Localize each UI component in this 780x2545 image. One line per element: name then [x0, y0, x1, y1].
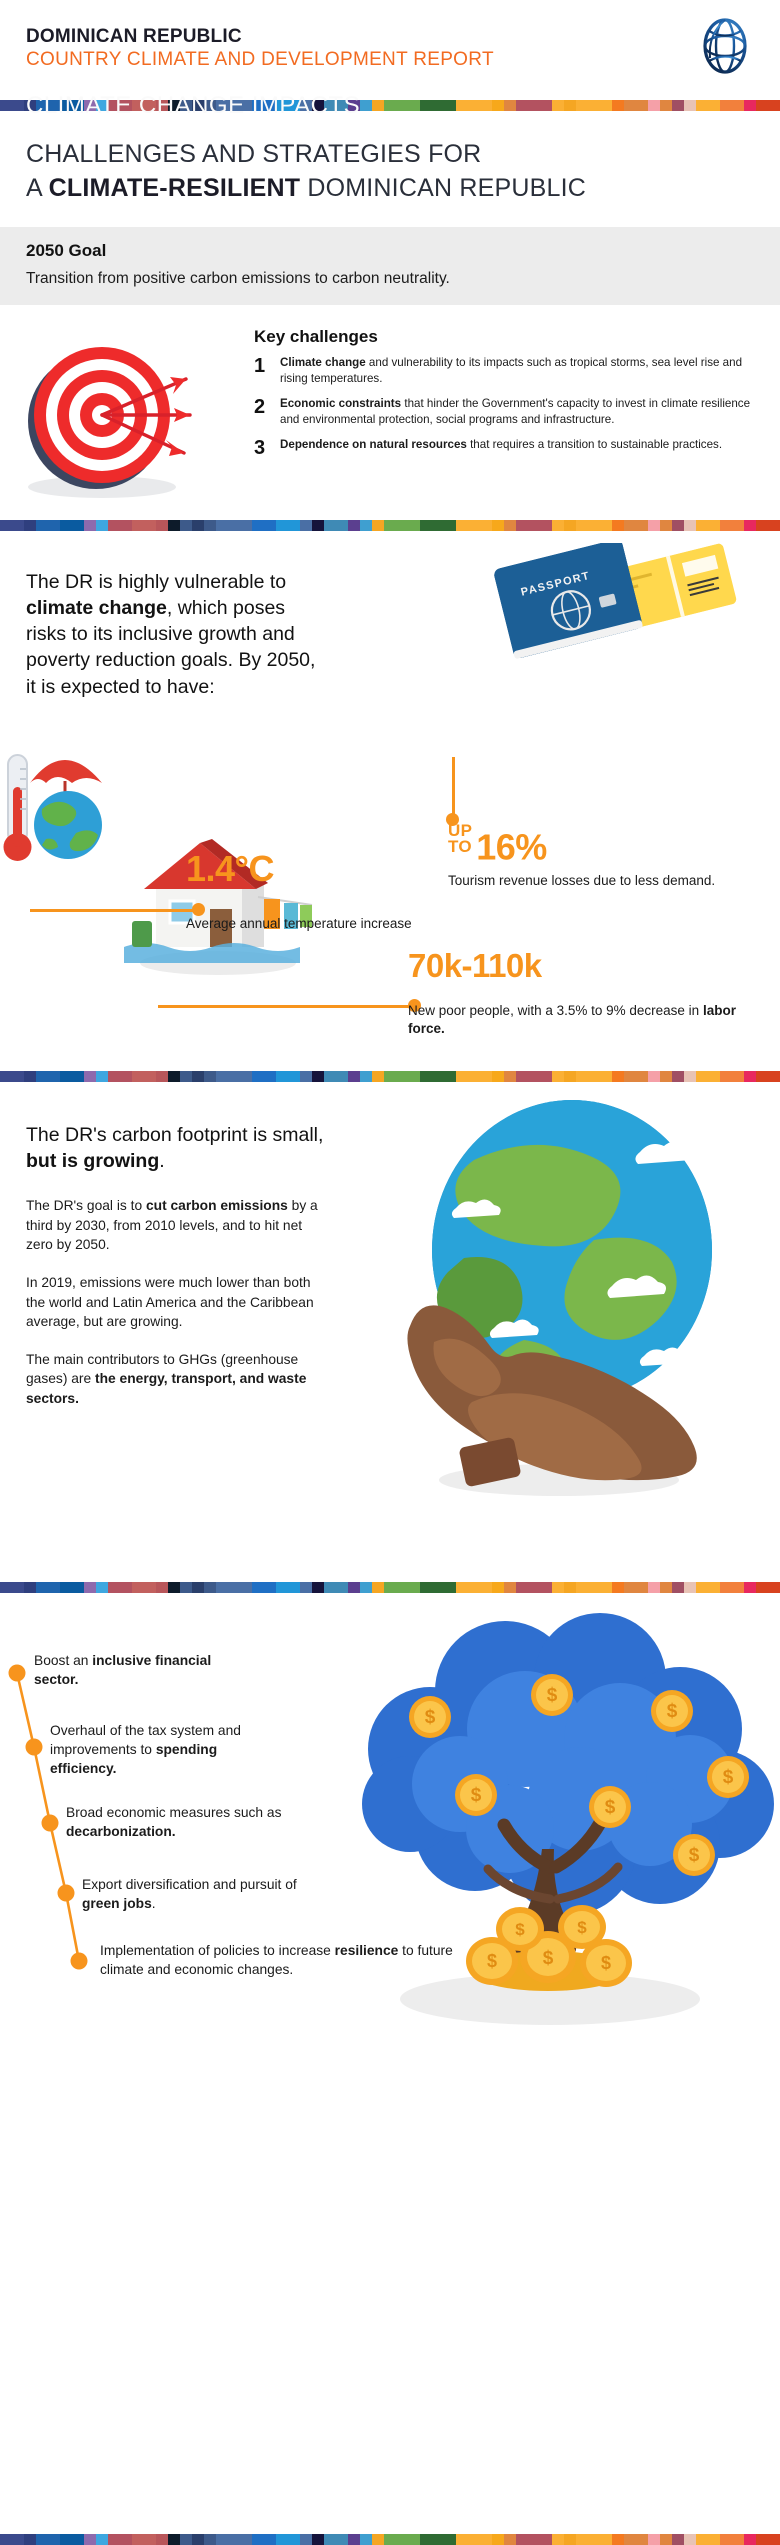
stripe-band-58	[696, 520, 708, 531]
stripe-band-11	[132, 1071, 144, 1082]
key-challenges-list: Key challenges 1 Climate change and vuln…	[254, 327, 754, 459]
carbon-heading-pre: The DR's carbon footprint is small,	[26, 1124, 323, 1146]
report-header: DOMINICAN REPUBLIC COUNTRY CLIMATE AND D…	[0, 0, 780, 100]
stripe-band-31	[372, 100, 384, 111]
stripe-band-17	[204, 2534, 216, 2545]
stripe-band-14	[168, 1582, 180, 1593]
stripe-band-36	[432, 100, 444, 111]
stripe-band-63	[756, 520, 768, 531]
stripe-band-62	[744, 1582, 756, 1593]
stripe-band-54	[648, 2534, 660, 2545]
stripe-band-57	[684, 1582, 696, 1593]
stripe-band-56	[672, 1071, 684, 1082]
stripe-band-0	[0, 520, 12, 531]
stripe-band-40	[480, 1582, 492, 1593]
stripe-band-16	[192, 1071, 204, 1082]
stripe-band-50	[600, 520, 612, 531]
stripe-band-1	[12, 520, 24, 531]
stripe-band-47	[564, 520, 576, 531]
stripe-band-1	[12, 100, 24, 111]
stripe-band-60	[720, 1071, 732, 1082]
stripe-band-7	[84, 1071, 96, 1082]
stripe-band-17	[204, 1071, 216, 1082]
stripe-band-57	[684, 2534, 696, 2545]
stripe-band-34	[408, 2534, 420, 2545]
stripe-band-63	[756, 1071, 768, 1082]
stripe-band-10	[120, 1582, 132, 1593]
stripe-band-21	[252, 1071, 264, 1082]
stripe-band-14	[168, 1071, 180, 1082]
stat-tourism-caption: Tourism revenue losses due to less deman…	[448, 872, 748, 890]
title-line-2-prefix: A	[26, 174, 49, 202]
stripe-band-32	[384, 1582, 396, 1593]
infographic-page: DOMINICAN REPUBLIC COUNTRY CLIMATE AND D…	[0, 0, 780, 2545]
stripe-band-56	[672, 1582, 684, 1593]
svg-text:$: $	[605, 1797, 616, 1818]
key-challenges-heading: Key challenges	[254, 327, 754, 347]
stripe-band-35	[420, 1071, 432, 1082]
stripe-band-29	[348, 1071, 360, 1082]
strategies-section: $ $ $ $ $ $ $ $ $ $ $ $	[0, 1593, 780, 2153]
stripe-band-64	[768, 1071, 780, 1082]
stripe-band-52	[624, 100, 636, 111]
stat-new-poor-people: 70k-110k New poor people, with a 3.5% to…	[408, 949, 738, 1038]
svg-text:$: $	[515, 1920, 525, 1939]
strategy-text-pre: Implementation of policies to increase	[100, 1943, 335, 1958]
strategy-item: Export diversification and pursuit of gr…	[82, 1875, 307, 1913]
stripe-band-12	[144, 2534, 156, 2545]
stripe-band-13	[156, 520, 168, 531]
stripe-band-51	[612, 1071, 624, 1082]
vuln-lead-pre: The DR is highly vulnerable to	[26, 571, 286, 593]
svg-text:$: $	[689, 1845, 700, 1866]
stat-tourism-prefix: UP TO	[448, 823, 472, 854]
stripe-band-34	[408, 1071, 420, 1082]
stripe-band-63	[756, 100, 768, 111]
stripe-band-44	[528, 1071, 540, 1082]
title-line-2-emphasis: CLIMATE-RESILIENT	[49, 174, 301, 202]
goal-text: Transition from positive carbon emission…	[26, 270, 754, 288]
stripe-band-40	[480, 520, 492, 531]
stripe-band-45	[540, 100, 552, 111]
stripe-band-40	[480, 2534, 492, 2545]
stripe-band-13	[156, 2534, 168, 2545]
strategy-text-pre: Boost an	[34, 1653, 92, 1668]
stripe-band-57	[684, 100, 696, 111]
stripe-band-6	[72, 1582, 84, 1593]
stripe-band-15	[180, 2534, 192, 2545]
stripe-band-53	[636, 1071, 648, 1082]
thermometer-and-earth-illustration	[2, 721, 120, 871]
carbon-footprint-section: The DR's carbon footprint is small, but …	[0, 1082, 780, 1582]
stripe-band-37	[444, 520, 456, 531]
stripe-band-29	[348, 1582, 360, 1593]
stripe-band-43	[516, 1071, 528, 1082]
svg-text:$: $	[601, 1953, 611, 1973]
stripe-band-32	[384, 520, 396, 531]
stripe-band-36	[432, 520, 444, 531]
stripe-band-38	[456, 2534, 468, 2545]
stripe-band-6	[72, 2534, 84, 2545]
stripe-band-49	[588, 1582, 600, 1593]
stripe-band-55	[660, 1582, 672, 1593]
stripe-band-19	[228, 1071, 240, 1082]
strategy-text-pre: Export diversification and pursuit of	[82, 1877, 297, 1892]
stripe-band-52	[624, 520, 636, 531]
stripe-band-18	[216, 1582, 228, 1593]
challenge-text-rest: that requires a transition to sustainabl…	[467, 438, 722, 451]
stripe-band-56	[672, 520, 684, 531]
stripe-band-35	[420, 520, 432, 531]
stripe-band-60	[720, 1582, 732, 1593]
stripe-band-36	[432, 1071, 444, 1082]
stripe-band-32	[384, 100, 396, 111]
stripe-band-62	[744, 1071, 756, 1082]
stripe-band-26	[312, 1582, 324, 1593]
stripe-band-10	[120, 520, 132, 531]
stripe-band-59	[708, 1582, 720, 1593]
stripe-band-35	[420, 1582, 432, 1593]
stripe-band-38	[456, 1582, 468, 1593]
stat-temperature-increase: 1.4°C Average annual temperature increas…	[186, 851, 436, 933]
stripe-band-40	[480, 100, 492, 111]
stripe-band-24	[288, 520, 300, 531]
stat-tourism-prefix-line2: TO	[448, 837, 472, 856]
stripe-band-4	[48, 2534, 60, 2545]
svg-text:$: $	[723, 1767, 734, 1788]
stripe-band-9	[108, 520, 120, 531]
stat-temperature-caption: Average annual temperature increase	[186, 915, 436, 933]
stripe-band-2	[24, 520, 36, 531]
stripe-band-51	[612, 100, 624, 111]
stripe-band-59	[708, 520, 720, 531]
stripe-band-45	[540, 1582, 552, 1593]
stripe-band-27	[324, 2534, 336, 2545]
stripe-band-1	[12, 2534, 24, 2545]
stripe-band-4	[48, 520, 60, 531]
stripe-band-41	[492, 1582, 504, 1593]
strategy-text-bold: decarbonization.	[66, 1824, 176, 1839]
challenge-text-bold: Economic constraints	[280, 397, 401, 410]
challenge-text-bold: Climate change	[280, 356, 366, 369]
stripe-band-39	[468, 1582, 480, 1593]
strategy-text-bold: resilience	[335, 1943, 399, 1958]
stripe-band-48	[576, 2534, 588, 2545]
stripe-band-52	[624, 2534, 636, 2545]
stripe-band-52	[624, 1582, 636, 1593]
stripe-band-16	[192, 520, 204, 531]
stripe-band-50	[600, 2534, 612, 2545]
vulnerability-section: The DR is highly vulnerable to climate c…	[0, 531, 780, 1071]
stripe-band-27	[324, 1582, 336, 1593]
stripe-band-39	[468, 100, 480, 111]
stripe-band-23	[276, 520, 288, 531]
key-challenge-item: 1 Climate change and vulnerability to it…	[254, 355, 754, 387]
main-title: CHALLENGES AND STRATEGIES FOR A CLIMATE-…	[0, 111, 780, 227]
report-series-name: COUNTRY CLIMATE AND DEVELOPMENT REPORT	[26, 48, 754, 72]
stripe-band-58	[696, 1582, 708, 1593]
stripe-band-64	[768, 520, 780, 531]
stripe-band-19	[228, 1582, 240, 1593]
stripe-band-7	[84, 520, 96, 531]
stripe-band-24	[288, 2534, 300, 2545]
stripe-band-7	[84, 1582, 96, 1593]
stripe-band-13	[156, 1071, 168, 1082]
stripe-band-47	[564, 100, 576, 111]
header-watermark: CLIMATE CHANGE IMPACTS	[26, 92, 360, 120]
stripe-band-47	[564, 2534, 576, 2545]
stripe-band-29	[348, 520, 360, 531]
stripe-band-55	[660, 520, 672, 531]
stripe-band-60	[720, 2534, 732, 2545]
stripe-band-37	[444, 1582, 456, 1593]
stripe-band-51	[612, 1582, 624, 1593]
stripe-band-31	[372, 520, 384, 531]
stripe-band-8	[96, 2534, 108, 2545]
climate-stripe-4	[0, 1582, 780, 1593]
carbon-paragraph: The DR's goal is to cut carbon emissions…	[26, 1196, 326, 1255]
stripe-band-23	[276, 1582, 288, 1593]
stripe-band-0	[0, 1582, 12, 1593]
stripe-band-22	[264, 520, 276, 531]
stat-tourism-value: 16%	[476, 827, 547, 868]
stripe-band-3	[36, 2534, 48, 2545]
carbon-heading-post: .	[159, 1150, 164, 1172]
stripe-band-59	[708, 100, 720, 111]
stripe-band-26	[312, 520, 324, 531]
stat-new-poor-value: 70k-110k	[408, 949, 738, 982]
stripe-band-55	[660, 1071, 672, 1082]
stripe-band-50	[600, 1582, 612, 1593]
hand-holding-globe-illustration	[344, 1090, 774, 1510]
stripe-band-55	[660, 2534, 672, 2545]
challenge-number: 3	[254, 437, 280, 459]
stripe-band-31	[372, 1071, 384, 1082]
stripe-band-56	[672, 100, 684, 111]
stripe-band-49	[588, 520, 600, 531]
key-challenge-item: 3 Dependence on natural resources that r…	[254, 437, 754, 459]
stripe-band-8	[96, 520, 108, 531]
stripe-band-45	[540, 1071, 552, 1082]
stripe-band-61	[732, 2534, 744, 2545]
stripe-band-19	[228, 520, 240, 531]
stripe-band-39	[468, 1071, 480, 1082]
stripe-band-33	[396, 100, 408, 111]
stripe-band-27	[324, 520, 336, 531]
carbon-paragraph: In 2019, emissions were much lower than …	[26, 1273, 326, 1332]
stripe-band-33	[396, 1071, 408, 1082]
stripe-band-17	[204, 520, 216, 531]
stripe-band-37	[444, 100, 456, 111]
challenge-text: Climate change and vulnerability to its …	[280, 355, 754, 387]
stripe-band-42	[504, 100, 516, 111]
stripe-band-14	[168, 520, 180, 531]
stripe-band-53	[636, 1582, 648, 1593]
stripe-band-20	[240, 1071, 252, 1082]
carbon-paragraph-bold: cut carbon emissions	[146, 1198, 288, 1213]
stripe-band-25	[300, 1071, 312, 1082]
stripe-band-5	[60, 1071, 72, 1082]
stripe-band-38	[456, 100, 468, 111]
goal-band: 2050 Goal Transition from positive carbo…	[0, 227, 780, 305]
carbon-text-column: The DR's carbon footprint is small, but …	[26, 1122, 326, 1426]
stripe-band-48	[576, 100, 588, 111]
stripe-band-12	[144, 1071, 156, 1082]
stripe-band-54	[648, 520, 660, 531]
stripe-band-54	[648, 1071, 660, 1082]
stripe-band-58	[696, 2534, 708, 2545]
stripe-band-33	[396, 520, 408, 531]
stat-tourism-value-row: UP TO 16%	[448, 823, 748, 866]
stripe-band-34	[408, 1582, 420, 1593]
carbon-heading: The DR's carbon footprint is small, but …	[26, 1122, 326, 1174]
stripe-band-45	[540, 520, 552, 531]
strategy-item: Broad economic measures such as decarbon…	[66, 1803, 286, 1841]
stripe-band-1	[12, 1071, 24, 1082]
stripe-band-46	[552, 1582, 564, 1593]
stripe-band-10	[120, 1071, 132, 1082]
stripe-band-28	[336, 1071, 348, 1082]
vulnerability-lead-text: The DR is highly vulnerable to climate c…	[26, 569, 326, 700]
stripe-band-34	[408, 520, 420, 531]
stripe-band-18	[216, 1071, 228, 1082]
stripe-band-10	[120, 2534, 132, 2545]
stripe-band-39	[468, 2534, 480, 2545]
stripe-band-9	[108, 1071, 120, 1082]
stripe-band-47	[564, 1582, 576, 1593]
carbon-paragraph-pre: In 2019, emissions were much lower than …	[26, 1275, 314, 1329]
stripe-band-40	[480, 1071, 492, 1082]
stripe-band-30	[360, 520, 372, 531]
stripe-band-43	[516, 1582, 528, 1593]
stripe-band-13	[156, 1582, 168, 1593]
stripe-band-46	[552, 1071, 564, 1082]
stripe-band-33	[396, 2534, 408, 2545]
stripe-band-61	[732, 520, 744, 531]
stripe-band-36	[432, 2534, 444, 2545]
stripe-band-5	[60, 2534, 72, 2545]
stripe-band-56	[672, 2534, 684, 2545]
stripe-band-53	[636, 100, 648, 111]
stripe-band-63	[756, 2534, 768, 2545]
stripe-band-42	[504, 2534, 516, 2545]
stripe-band-18	[216, 520, 228, 531]
carbon-paragraph: The main contributors to GHGs (greenhous…	[26, 1350, 326, 1409]
stripe-band-24	[288, 1071, 300, 1082]
stripe-band-42	[504, 1582, 516, 1593]
stripe-band-46	[552, 520, 564, 531]
carbon-paragraph-pre: The DR's goal is to	[26, 1198, 146, 1213]
stripe-band-49	[588, 100, 600, 111]
stripe-band-2	[24, 2534, 36, 2545]
stripe-band-23	[276, 1071, 288, 1082]
stat-temperature-value: 1.4°C	[186, 851, 436, 887]
stripe-band-3	[36, 520, 48, 531]
stripe-band-9	[108, 1582, 120, 1593]
stripe-band-55	[660, 100, 672, 111]
stripe-band-54	[648, 1582, 660, 1593]
challenge-text-bold: Dependence on natural resources	[280, 438, 467, 451]
strategy-text-pre: Broad economic measures such as	[66, 1805, 282, 1820]
stripe-band-34	[408, 100, 420, 111]
stripe-band-32	[384, 2534, 396, 2545]
stat-new-poor-caption-pre: New poor people, with a 3.5% to 9% decre…	[408, 1003, 703, 1018]
stripe-band-22	[264, 1582, 276, 1593]
stripe-band-58	[696, 100, 708, 111]
stripe-band-12	[144, 520, 156, 531]
stripe-band-11	[132, 1582, 144, 1593]
carbon-heading-bold: but is growing	[26, 1150, 159, 1172]
climate-stripe-2	[0, 520, 780, 531]
stripe-band-61	[732, 1071, 744, 1082]
stripe-band-64	[768, 2534, 780, 2545]
stripe-band-50	[600, 1071, 612, 1082]
stripe-band-60	[720, 100, 732, 111]
climate-stripe-3	[0, 1071, 780, 1082]
stripe-band-36	[432, 1582, 444, 1593]
title-line-1: CHALLENGES AND STRATEGIES FOR	[26, 140, 481, 168]
stripe-band-28	[336, 520, 348, 531]
stripe-band-35	[420, 100, 432, 111]
stripe-band-2	[24, 1071, 36, 1082]
stripe-band-31	[372, 2534, 384, 2545]
stripe-band-37	[444, 1071, 456, 1082]
stat-tourism-revenue: UP TO 16% Tourism revenue losses due to …	[448, 823, 748, 889]
svg-text:$: $	[547, 1685, 558, 1706]
stripe-band-37	[444, 2534, 456, 2545]
report-country-name: DOMINICAN REPUBLIC	[26, 26, 754, 48]
stripe-band-64	[768, 1582, 780, 1593]
challenge-text: Economic constraints that hinder the Gov…	[280, 396, 754, 428]
stripe-band-53	[636, 520, 648, 531]
stripe-band-41	[492, 520, 504, 531]
stripe-band-19	[228, 2534, 240, 2545]
stripe-band-64	[768, 100, 780, 111]
stripe-band-25	[300, 1582, 312, 1593]
key-challenge-item: 2 Economic constraints that hinder the G…	[254, 396, 754, 428]
stripe-band-30	[360, 1071, 372, 1082]
stripe-band-2	[24, 1582, 36, 1593]
stripe-band-26	[312, 1071, 324, 1082]
target-with-arrows-illustration	[18, 329, 228, 504]
passport-and-ticket-illustration: PASSPORT	[464, 543, 764, 683]
stripe-band-43	[516, 100, 528, 111]
stripe-band-62	[744, 520, 756, 531]
stripe-band-21	[252, 2534, 264, 2545]
stripe-band-21	[252, 520, 264, 531]
stripe-band-15	[180, 1071, 192, 1082]
stripe-band-46	[552, 2534, 564, 2545]
challenge-number: 2	[254, 396, 280, 428]
stripe-band-25	[300, 520, 312, 531]
stripe-band-7	[84, 2534, 96, 2545]
strategy-text-bold: green jobs	[82, 1896, 152, 1911]
stripe-band-6	[72, 1071, 84, 1082]
stripe-band-38	[456, 520, 468, 531]
stripe-band-57	[684, 520, 696, 531]
climate-stripe-bottom	[0, 2534, 780, 2545]
stat-new-poor-caption: New poor people, with a 3.5% to 9% decre…	[408, 1002, 738, 1038]
stripe-band-42	[504, 520, 516, 531]
stripe-band-60	[720, 520, 732, 531]
stripe-band-18	[216, 2534, 228, 2545]
stripe-band-57	[684, 1071, 696, 1082]
challenge-number: 1	[254, 355, 280, 387]
stripe-band-28	[336, 2534, 348, 2545]
stripe-band-51	[612, 2534, 624, 2545]
stripe-band-48	[576, 1071, 588, 1082]
stripe-band-22	[264, 1071, 276, 1082]
